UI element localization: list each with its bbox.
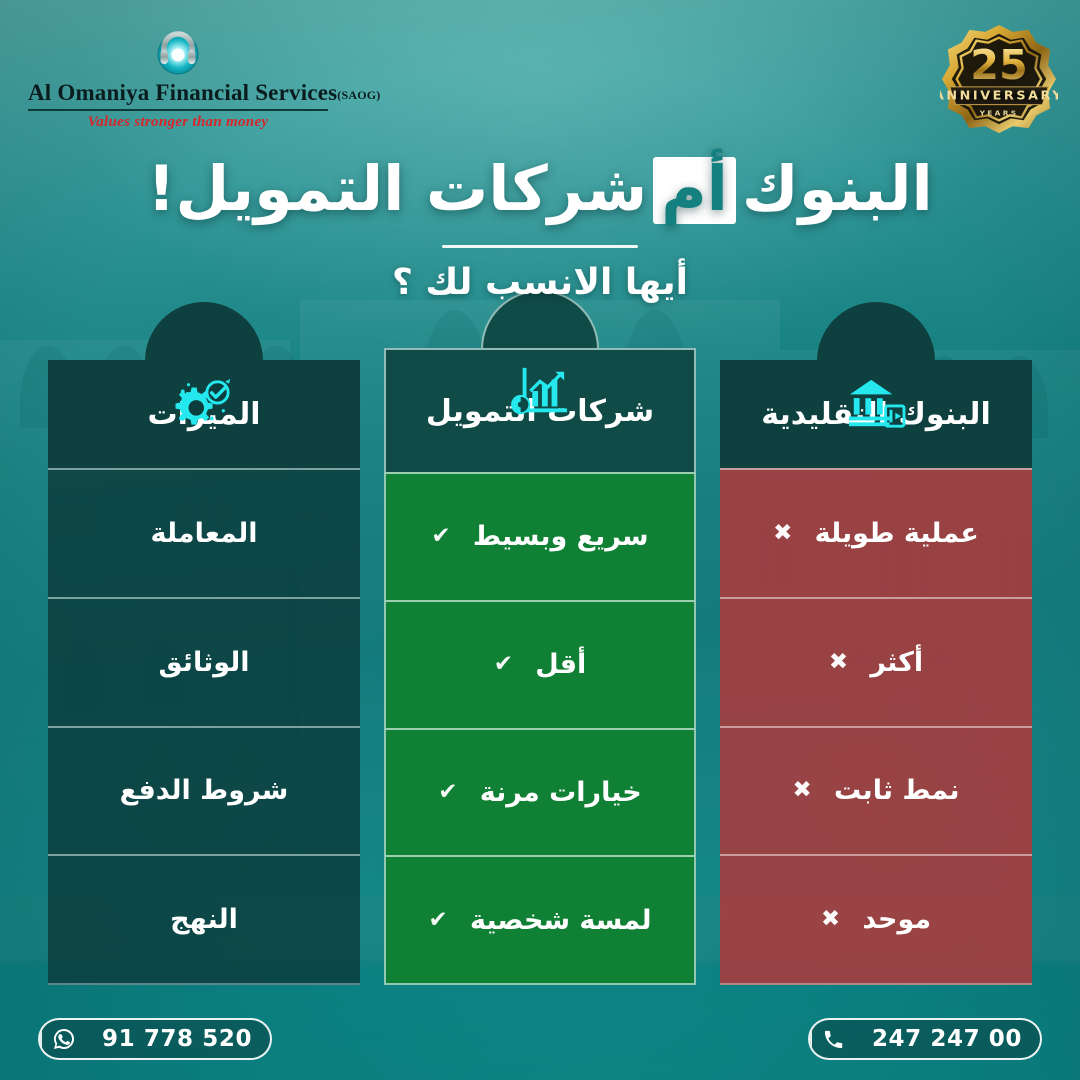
company-legal-suffix: (SAOG) xyxy=(337,88,380,102)
headline-block: البنوكأمشركات التمويل! أيها الانسب لك ؟ xyxy=(0,152,1080,303)
whatsapp-number: 91 778 520 xyxy=(86,1020,270,1058)
headline-highlight: أم xyxy=(653,157,736,224)
growth-chart-icon xyxy=(509,364,571,420)
cell-text: عملية طويلة xyxy=(815,518,979,549)
badge-label: ANNIVERSARY xyxy=(940,89,1058,104)
whatsapp-icon xyxy=(40,1020,86,1058)
cell-banks-3: موحد ✖ xyxy=(720,854,1032,985)
cell-text: موحد xyxy=(862,904,931,935)
cell-text: لمسة شخصية xyxy=(470,905,652,936)
badge-sublabel: YEARS xyxy=(979,108,1019,117)
company-tagline: Values stronger than money xyxy=(28,114,328,131)
cell-finance-1: أقل ✔ xyxy=(384,600,696,728)
cell-finance-2: خيارات مرنة ✔ xyxy=(384,728,696,856)
page-subtitle: أيها الانسب لك ؟ xyxy=(0,262,1080,303)
anniversary-badge: 25 ANNIVERSARY YEARS xyxy=(940,22,1058,138)
headline-part-2: شركات التمويل! xyxy=(147,152,647,225)
cell-feature-2: شروط الدفع xyxy=(48,726,360,855)
infographic-poster: Al Omaniya Financial Services(SAOG) Valu… xyxy=(0,0,1080,1080)
cell-text: سريع وبسيط xyxy=(473,521,649,552)
check-icon: ✔ xyxy=(438,781,457,804)
top-bar: Al Omaniya Financial Services(SAOG) Valu… xyxy=(0,0,1080,150)
headline-part-1: البنوك xyxy=(742,152,933,225)
cell-feature-0: المعاملة xyxy=(48,468,360,597)
cell-text: أقل xyxy=(535,649,586,680)
logo-divider xyxy=(28,109,328,111)
comparison-table: البنوك التقليدية عملية طويلة ✖ أكثر ✖ نم… xyxy=(0,360,1080,985)
cell-text: نمط ثابت xyxy=(834,775,960,806)
check-icon: ✔ xyxy=(494,653,513,676)
cross-icon: ✖ xyxy=(773,522,792,545)
phone-number: 247 247 00 xyxy=(856,1020,1040,1058)
phone-icon xyxy=(810,1020,856,1058)
headphone-arc-logo-icon xyxy=(153,28,203,78)
phone-contact[interactable]: 247 247 00 xyxy=(808,1018,1042,1060)
company-logo[interactable]: Al Omaniya Financial Services(SAOG) Valu… xyxy=(28,28,328,131)
cross-icon: ✖ xyxy=(821,908,840,931)
column-finance-companies: شركات التمويل سريع وبسيط ✔ أقل ✔ خيارات … xyxy=(384,348,696,985)
company-name: Al Omaniya Financial Services(SAOG) xyxy=(28,80,328,106)
cross-icon: ✖ xyxy=(792,779,811,802)
page-title: البنوكأمشركات التمويل! xyxy=(0,152,1080,225)
column-features: الميزات المعاملة الوثائق شروط الدفع النه… xyxy=(48,360,360,985)
badge-number: 25 xyxy=(970,41,1027,89)
cell-finance-3: لمسة شخصية ✔ xyxy=(384,855,696,985)
headline-divider xyxy=(442,245,638,248)
cell-text: خيارات مرنة xyxy=(480,777,642,808)
column-traditional-banks: البنوك التقليدية عملية طويلة ✖ أكثر ✖ نم… xyxy=(720,360,1032,985)
cell-banks-2: نمط ثابت ✖ xyxy=(720,726,1032,855)
whatsapp-contact[interactable]: 91 778 520 xyxy=(38,1018,272,1060)
cell-banks-0: عملية طويلة ✖ xyxy=(720,468,1032,597)
cell-finance-0: سريع وبسيط ✔ xyxy=(384,472,696,600)
check-icon: ✔ xyxy=(429,909,448,932)
cell-banks-1: أكثر ✖ xyxy=(720,597,1032,726)
bank-building-icon xyxy=(845,376,907,432)
cell-feature-1: الوثائق xyxy=(48,597,360,726)
cell-feature-3: النهج xyxy=(48,854,360,985)
cell-text: أكثر xyxy=(870,647,923,678)
check-icon: ✔ xyxy=(431,525,450,548)
gear-check-icon xyxy=(173,376,235,432)
cross-icon: ✖ xyxy=(829,651,848,674)
